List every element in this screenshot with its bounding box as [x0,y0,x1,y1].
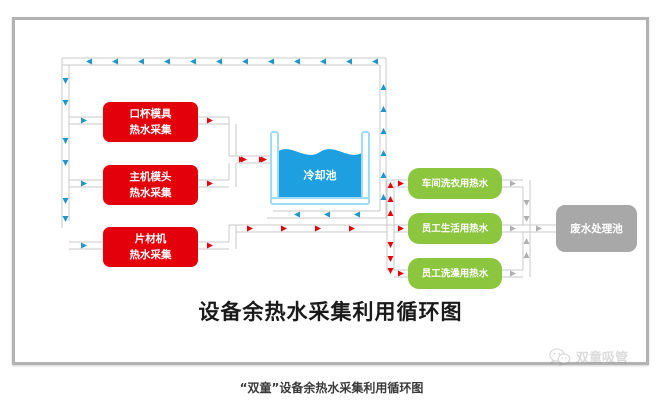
consumer-box-3[interactable]: 员工洗澡用热水 [408,258,502,289]
source-box-1-line2: 热水采集 [130,123,172,136]
image-caption: “双童”设备余热水采集利用循环图 [0,379,663,396]
drain-flow-arrows [510,181,542,277]
consumer-box-3-label: 员工洗澡用热水 [422,268,489,280]
wechat-icon [549,348,571,366]
waste-pool-box[interactable]: 废水处理池 [556,205,637,252]
page-root: 口杯模具 热水采集 主机模头 热水采集 片材机 热水采集 [0,0,663,407]
waste-pool-label: 废水处理池 [570,222,623,235]
cooling-pool[interactable]: 冷却池 [271,132,369,204]
consumer-box-1-label: 车间洗衣用热水 [422,178,489,190]
source-box-3-line1: 片材机 [135,232,167,245]
watermark-label: 双童吸管 [576,347,628,366]
source-box-3-line2: 热水采集 [130,248,172,261]
consumer-box-2[interactable]: 员工生活用热水 [408,213,502,244]
source-box-3[interactable]: 片材机 热水采集 [103,227,198,267]
consumer-box-1[interactable]: 车间洗衣用热水 [408,168,502,199]
source-box-2-line1: 主机模头 [130,170,172,183]
source-box-1-line1: 口杯模具 [130,107,172,120]
diagram-card: 口杯模具 热水采集 主机模头 热水采集 片材机 热水采集 [12,17,649,365]
source-box-2-line2: 热水采集 [130,186,172,199]
diagram-title: 设备余热水采集利用循环图 [15,296,646,326]
source-box-1[interactable]: 口杯模具 热水采集 [103,102,198,142]
watermark: 双童吸管 [549,347,628,366]
consumer-box-2-label: 员工生活用热水 [422,223,489,235]
cooling-pool-label: 冷却池 [304,168,337,182]
source-box-2[interactable]: 主机模头 热水采集 [103,165,198,205]
